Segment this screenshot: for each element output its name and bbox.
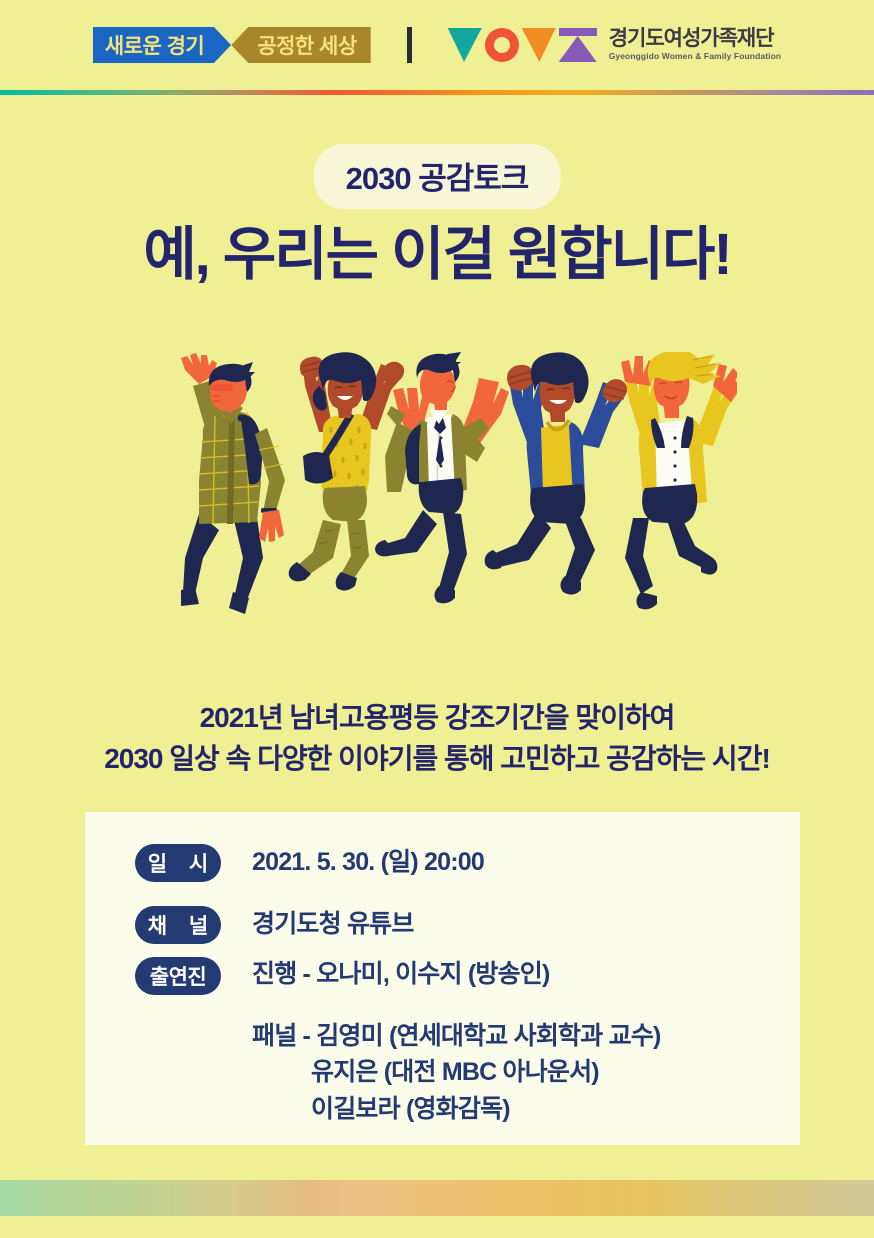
channel-label: 채 널 <box>135 906 221 944</box>
detail-row-date: 일 시 2021. 5. 30. (일) 20:00 <box>135 842 484 882</box>
date-value: 2021. 5. 30. (일) 20:00 <box>252 842 484 875</box>
orange-triangle-icon <box>522 28 556 62</box>
jumping-people-illustration <box>137 352 737 642</box>
figure-4 <box>485 352 628 594</box>
description-line-2: 2030 일상 속 다양한 이야기를 통해 고민하고 공감하는 시간! <box>0 738 874 779</box>
red-circle-icon <box>485 28 519 62</box>
cast-panel-lines: 패널 - 김영미 (연세대학교 사회학과 교수) 유지은 (대전 MBC 아나운… <box>252 1018 661 1127</box>
page-title: 예, 우리는 이걸 원합니다! <box>0 207 874 291</box>
cast-panel-line-2: 유지은 (대전 MBC 아나운서) <box>252 1054 661 1090</box>
detail-row-channel: 채 널 경기도청 유튜브 <box>135 904 414 944</box>
description-line-1: 2021년 남녀고용평등 강조기간을 맞이하여 <box>0 697 874 738</box>
slogan-gold-text: 공정한 세상 <box>231 27 370 63</box>
poster-header: 새로운 경기 공정한 세상 경기도여성가족재단 Gyeonggido Women… <box>0 0 874 90</box>
figure-5 <box>621 352 737 609</box>
purple-lamp-icon <box>559 28 597 62</box>
event-description: 2021년 남녀고용평등 강조기간을 맞이하여 2030 일상 속 다양한 이야… <box>0 697 874 779</box>
poster: 새로운 경기 공정한 세상 경기도여성가족재단 Gyeonggido Women… <box>0 0 874 1238</box>
event-details-box: 일 시 2021. 5. 30. (일) 20:00 채 널 경기도청 유튜브 … <box>85 812 800 1145</box>
footer-gradient-band <box>0 1180 874 1216</box>
foundation-name-ko: 경기도여성가족재단 <box>609 28 782 50</box>
program-badge: 2030 공감토크 <box>314 144 561 209</box>
figure-1 <box>181 353 285 614</box>
date-label: 일 시 <box>135 844 221 882</box>
gyeonggi-slogan-logo: 새로운 경기 공정한 세상 <box>93 27 371 63</box>
teal-triangle-icon <box>448 28 482 62</box>
foundation-name-en: Gyeonggido Women & Family Foundation <box>609 51 782 61</box>
slogan-blue-text: 새로운 경기 <box>93 27 214 63</box>
foundation-name-block: 경기도여성가족재단 Gyeonggido Women & Family Foun… <box>609 28 782 61</box>
cast-panel-line-1: 패널 - 김영미 (연세대학교 사회학과 교수) <box>252 1018 661 1054</box>
foundation-mark-icon <box>448 28 597 62</box>
cast-value-block: 진행 - 오나미, 이수지 (방송인) 패널 - 김영미 (연세대학교 사회학과… <box>252 955 661 1127</box>
cast-label: 출연진 <box>135 957 221 995</box>
cast-host-line: 진행 - 오나미, 이수지 (방송인) <box>252 962 661 987</box>
detail-row-cast: 출연진 진행 - 오나미, 이수지 (방송인) 패널 - 김영미 (연세대학교 … <box>135 955 661 1127</box>
foundation-logo: 경기도여성가족재단 Gyeonggido Women & Family Foun… <box>448 28 782 62</box>
header-divider <box>407 27 412 63</box>
header-gradient-rule <box>0 90 874 95</box>
channel-value: 경기도청 유튜브 <box>252 904 414 937</box>
cast-panel-line-3: 이길보라 (영화감독) <box>252 1091 661 1127</box>
